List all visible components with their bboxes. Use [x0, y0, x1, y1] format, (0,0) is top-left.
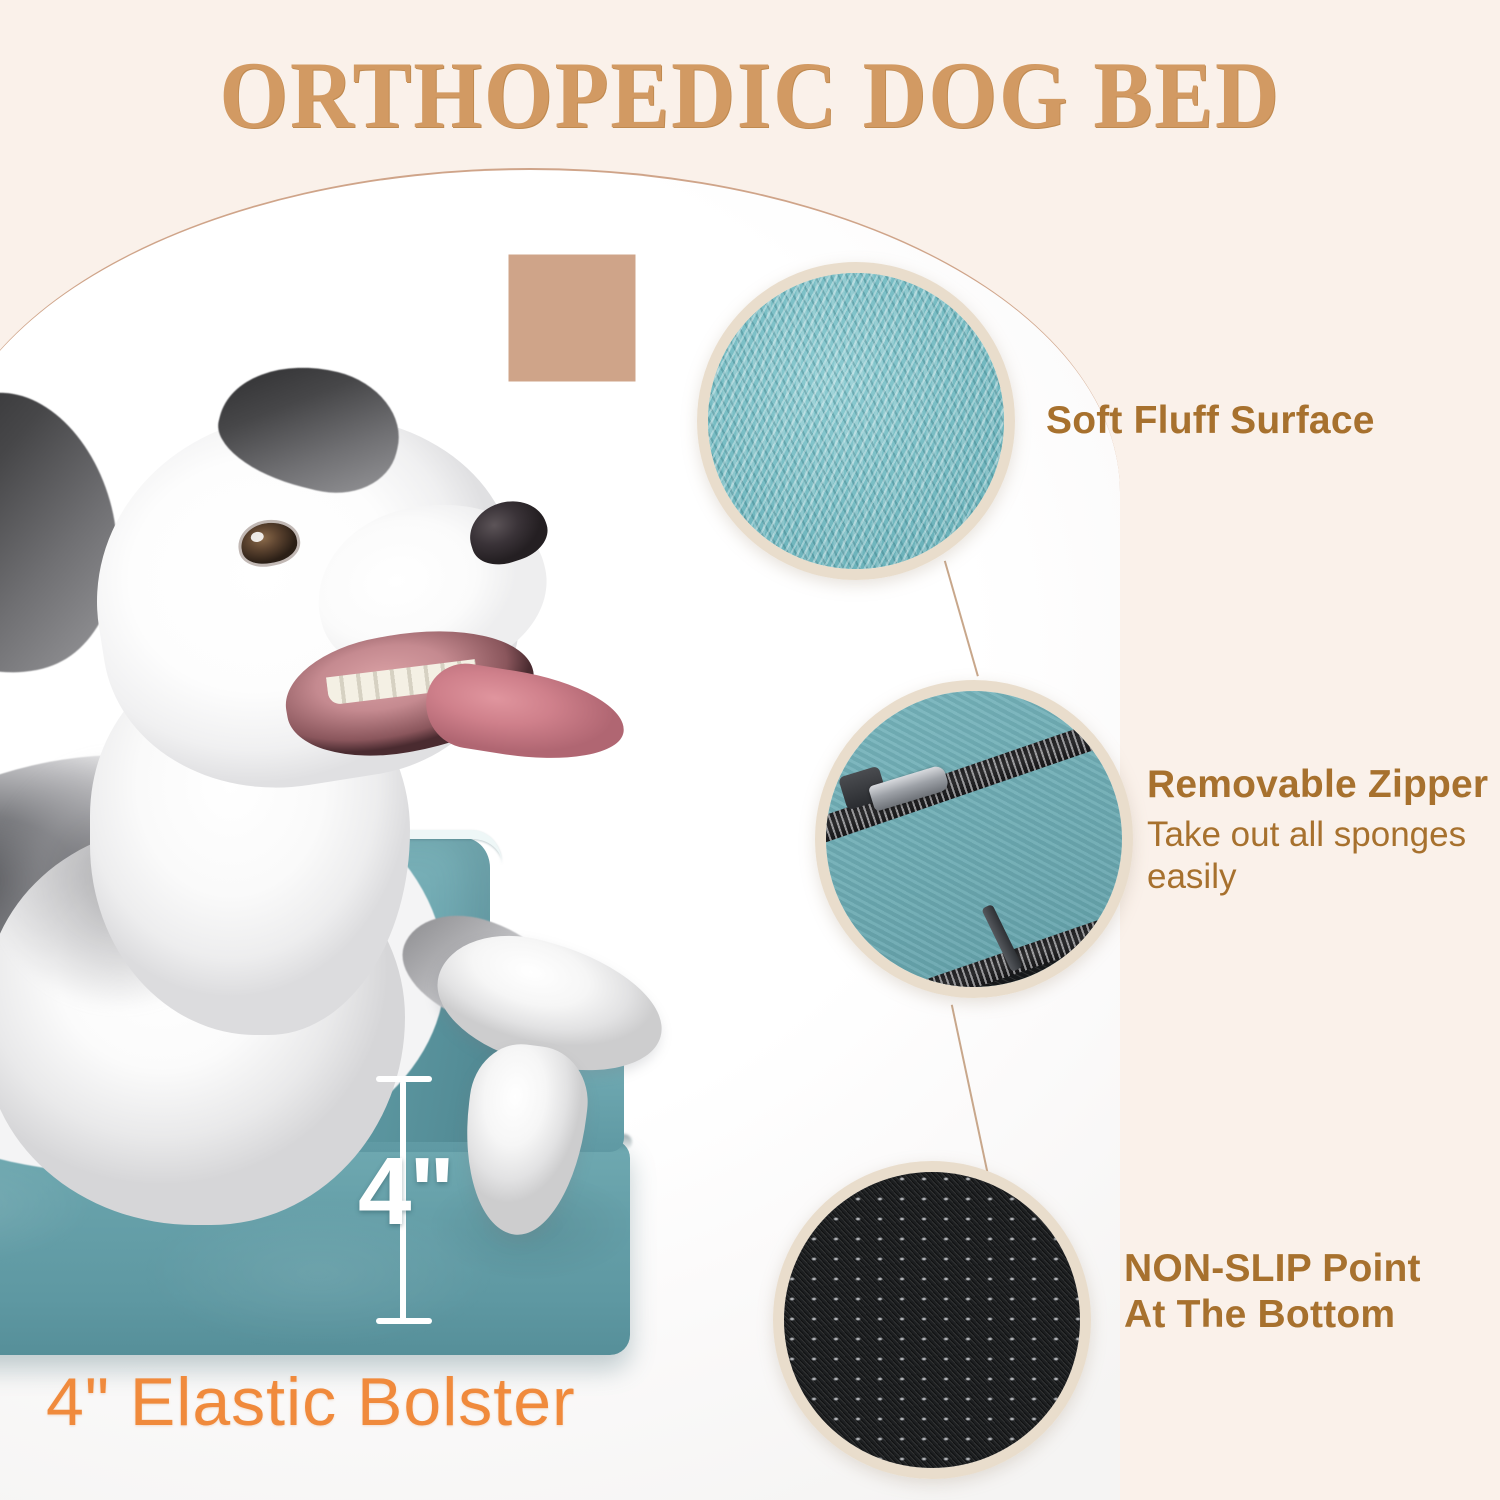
- callout-heading-zipper: Removable Zipper: [1147, 762, 1488, 808]
- callout-sub-zipper: Take out all sponges easily: [1147, 814, 1477, 898]
- infographic-page: ORTHOPEDIC DOG BED: [0, 0, 1500, 1500]
- dog-photo-subject: [0, 355, 695, 1355]
- nonslip-dot-texture-swatch: [784, 1172, 1080, 1468]
- callout-heading-fluff: Soft Fluff Surface: [1046, 398, 1375, 444]
- detail-circle-soft-fluff[interactable]: [697, 262, 1015, 580]
- dimension-label: 4": [358, 1144, 453, 1240]
- page-title: ORTHOPEDIC DOG BED: [53, 46, 1448, 146]
- callout-removable-zipper: Removable Zipper Take out all sponges ea…: [1147, 762, 1488, 898]
- bolster-height-dimension: 4": [364, 1066, 494, 1336]
- dimension-cap-bottom: [376, 1318, 432, 1324]
- callout-soft-fluff: Soft Fluff Surface: [1046, 398, 1375, 444]
- zipper-cover-swatch: [826, 691, 1122, 987]
- callout-heading-nonslip: NON-SLIP Point: [1124, 1246, 1421, 1292]
- bolster-caption: 4" Elastic Bolster: [46, 1368, 576, 1436]
- detail-circle-removable-zipper[interactable]: [815, 680, 1133, 998]
- callout-non-slip: NON-SLIP Point At The Bottom: [1124, 1246, 1421, 1338]
- dog-tongue: [420, 658, 631, 772]
- detail-circle-non-slip-bottom[interactable]: [773, 1161, 1091, 1479]
- callout-heading-nonslip-line2: At The Bottom: [1124, 1292, 1421, 1338]
- fluff-texture-swatch: [708, 273, 1004, 569]
